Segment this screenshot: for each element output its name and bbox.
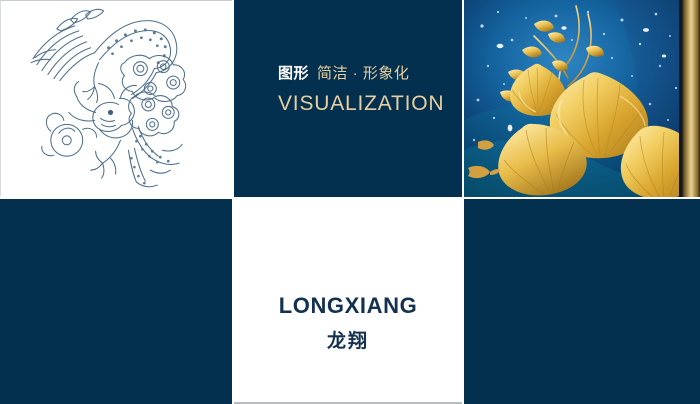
visualization-panel: 图形简洁 · 形象化 VISUALIZATION	[234, 0, 462, 197]
logo-stack: LONGXIANG 龙翔	[234, 295, 462, 351]
visualization-subtitle-cn: 简洁 · 形象化	[317, 65, 409, 82]
chinese-dragon-icon	[1, 1, 232, 196]
golden-ginkgo-leaves-image	[464, 0, 700, 197]
logo-chinese-name: 龙翔	[234, 332, 462, 351]
ginkgo-gold-frame	[682, 0, 700, 197]
visualization-en-title: VISUALIZATION	[278, 93, 444, 114]
dragon-artwork-panel	[0, 0, 232, 196]
symbolization-panel: 字体稳重 · 符号化 SYMBOLIZATION	[0, 199, 232, 404]
logo-latin-name: LONGXIANG	[234, 295, 462, 317]
brand-concept-board: 图形简洁 · 形象化 VISUALIZATION	[0, 0, 700, 404]
visualization-kicker: 图形	[278, 65, 309, 82]
visualization-text-block: 图形简洁 · 形象化 VISUALIZATION	[278, 66, 444, 114]
international-panel: 色彩时尚 · 国际化 INTERNATIONAL	[464, 199, 700, 404]
visualization-cn-line: 图形简洁 · 形象化	[278, 66, 444, 82]
brand-logo-panel: LONGXIANG 龙翔	[234, 199, 462, 404]
ginkgo-artwork-panel	[464, 0, 700, 197]
